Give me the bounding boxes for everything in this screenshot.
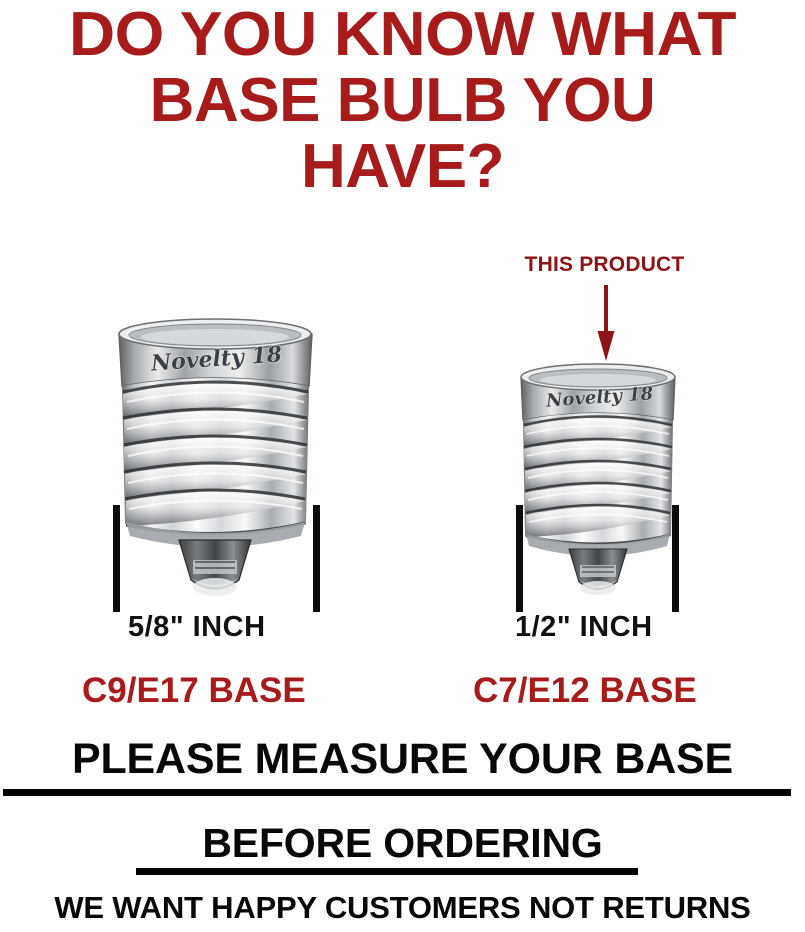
this-product-callout-label: THIS PRODUCT [497, 253, 712, 277]
caliper-tick-left-outer [113, 505, 120, 612]
headline-line-1: DO YOU KNOW WHAT [0, 2, 805, 68]
footer-line-before-ordering: BEFORE ORDERING [0, 820, 805, 867]
infographic-canvas: DO YOU KNOW WHAT BASE BULB YOU HAVE? THI… [0, 0, 805, 932]
measurement-label-left: 5/8" INCH [128, 611, 266, 644]
footer-line-happy-customers: WE WANT HAPPY CUSTOMERS NOT RETURNS [0, 890, 805, 926]
caliper-tick-right-inner [672, 505, 679, 612]
base-type-label-left: C9/E17 BASE [82, 671, 306, 711]
caliper-tick-right-outer [516, 505, 523, 612]
bulb-right-c7e12: Novelty 18 [516, 358, 680, 604]
base-type-label-right: C7/E12 BASE [473, 671, 697, 711]
footer-underline-1 [3, 789, 791, 796]
caliper-tick-left-inner [313, 505, 320, 612]
arrow-down-icon [595, 285, 617, 361]
bulb-left-c9e17: Novelty 18 [113, 312, 318, 604]
headline-line-3: HAVE? [0, 134, 805, 200]
page-title: DO YOU KNOW WHAT BASE BULB YOU HAVE? [0, 2, 805, 200]
footer-underline-2 [136, 868, 638, 875]
measurement-label-right: 1/2" INCH [515, 611, 653, 644]
headline-line-2: BASE BULB YOU [0, 68, 805, 134]
footer-line-measure: PLEASE MEASURE YOUR BASE [0, 735, 805, 784]
